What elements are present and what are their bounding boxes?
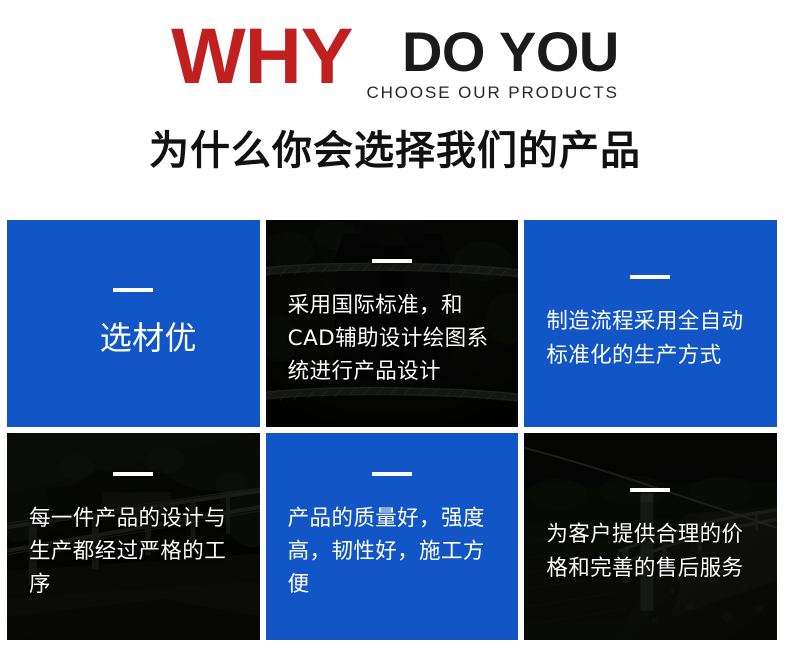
feature-cell-2-inner: 采用国际标准，和CAD辅助设计绘图系统进行产品设计 <box>266 259 519 389</box>
feature-cell-1-inner: 选材优 <box>7 288 260 360</box>
feature-grid: 选材优 <box>7 220 777 640</box>
banner-header: WHY DO YOU CHOOSE OUR PRODUCTS 为什么你会选择我们… <box>0 0 790 220</box>
feature-cell-1: 选材优 <box>7 220 260 427</box>
headline-chinese-subtitle: 为什么你会选择我们的产品 <box>0 128 790 174</box>
feature-cell-5-inner: 产品的质量好，强度高，韧性好，施工方便 <box>266 472 519 602</box>
feature-cell-5: 产品的质量好，强度高，韧性好，施工方便 <box>266 433 519 640</box>
feature-cell-6: 为客户提供合理的价格和完善的售后服务 <box>524 433 777 640</box>
feature-cell-5-text: 产品的质量好，强度高，韧性好，施工方便 <box>288 502 497 602</box>
divider-line-icon <box>113 288 153 292</box>
divider-line-icon <box>630 275 670 279</box>
headline-main-words: DO YOU <box>402 24 619 80</box>
feature-cell-2-text: 采用国际标准，和CAD辅助设计绘图系统进行产品设计 <box>288 289 497 389</box>
feature-cell-6-inner: 为客户提供合理的价格和完善的售后服务 <box>524 488 777 585</box>
divider-line-icon <box>630 488 670 492</box>
feature-cell-4-inner: 每一件产品的设计与生产都经过严格的工序 <box>7 472 260 602</box>
headline-right-stack: DO YOU CHOOSE OUR PRODUCTS <box>366 18 618 103</box>
feature-cell-1-text: 选材优 <box>29 318 238 360</box>
headline-accent-word: WHY <box>171 18 352 93</box>
feature-cell-3-text: 制造流程采用全自动标准化的生产方式 <box>546 305 755 372</box>
divider-line-icon <box>113 472 153 476</box>
feature-cell-3-inner: 制造流程采用全自动标准化的生产方式 <box>524 275 777 372</box>
headline-row: WHY DO YOU CHOOSE OUR PRODUCTS <box>0 18 790 103</box>
headline-subline: CHOOSE OUR PRODUCTS <box>366 84 618 103</box>
divider-line-icon <box>372 259 412 263</box>
feature-cell-2: 采用国际标准，和CAD辅助设计绘图系统进行产品设计 <box>266 220 519 427</box>
feature-cell-4: 每一件产品的设计与生产都经过严格的工序 <box>7 433 260 640</box>
feature-cell-6-text: 为客户提供合理的价格和完善的售后服务 <box>546 518 755 585</box>
feature-cell-4-text: 每一件产品的设计与生产都经过严格的工序 <box>29 502 238 602</box>
divider-line-icon <box>372 472 412 476</box>
feature-cell-3: 制造流程采用全自动标准化的生产方式 <box>524 220 777 427</box>
